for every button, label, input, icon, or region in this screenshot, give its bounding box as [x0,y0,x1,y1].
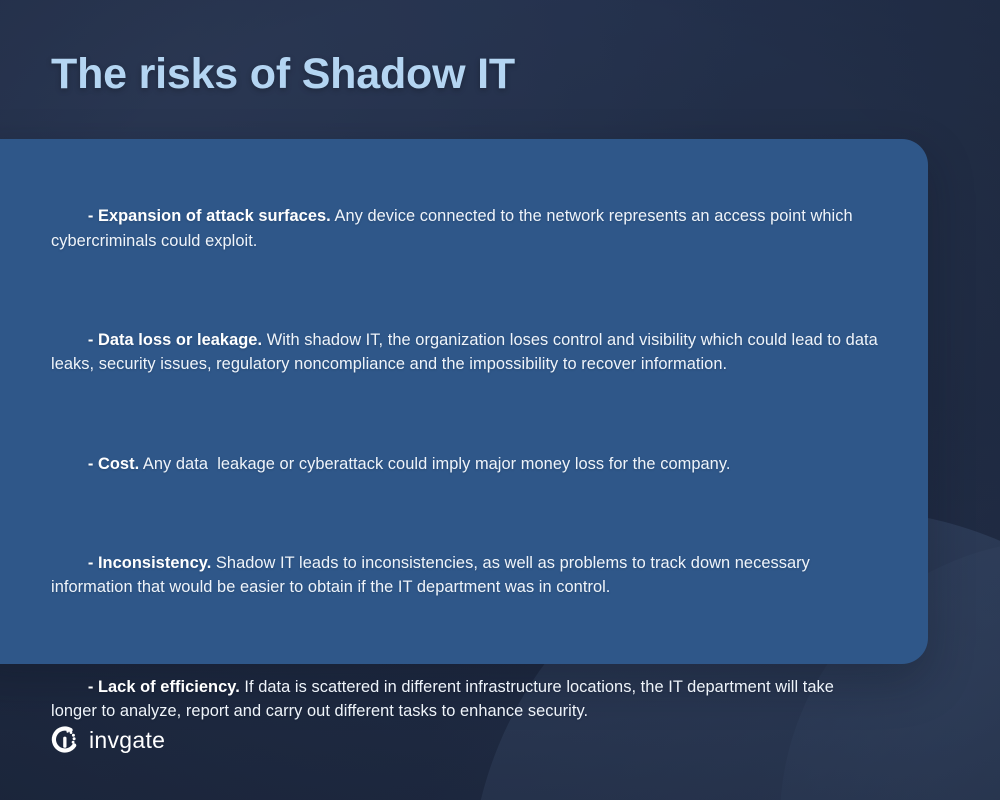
bullet-list: - Expansion of attack surfaces. Any devi… [51,180,882,748]
content-card: - Expansion of attack surfaces. Any devi… [0,139,928,664]
bullet-item: - Cost. Any data leakage or cyberattack … [51,427,882,500]
bullet-item: - Lack of efficiency. If data is scatter… [51,650,882,748]
bullet-lead: - Expansion of attack surfaces. [88,207,331,225]
page-title: The risks of Shadow IT [51,46,515,102]
bullet-item: - Data loss or leakage. With shadow IT, … [51,304,882,402]
bullet-body: Any data leakage or cyberattack could im… [139,455,730,473]
bullet-item: - Expansion of attack surfaces. Any devi… [51,180,882,278]
bullet-item: - Inconsistency. Shadow IT leads to inco… [51,526,882,624]
bullet-lead: - Inconsistency. [88,554,211,572]
bullet-lead: - Data loss or leakage. [88,331,262,349]
slide-canvas: The risks of Shadow IT - Expansion of at… [0,0,1000,800]
invgate-circle-mark-icon [50,725,80,755]
invgate-wordmark: invgate [89,729,165,752]
bullet-lead: - Lack of efficiency. [88,678,240,696]
invgate-logo: invgate [50,725,165,755]
bullet-lead: - Cost. [88,455,139,473]
